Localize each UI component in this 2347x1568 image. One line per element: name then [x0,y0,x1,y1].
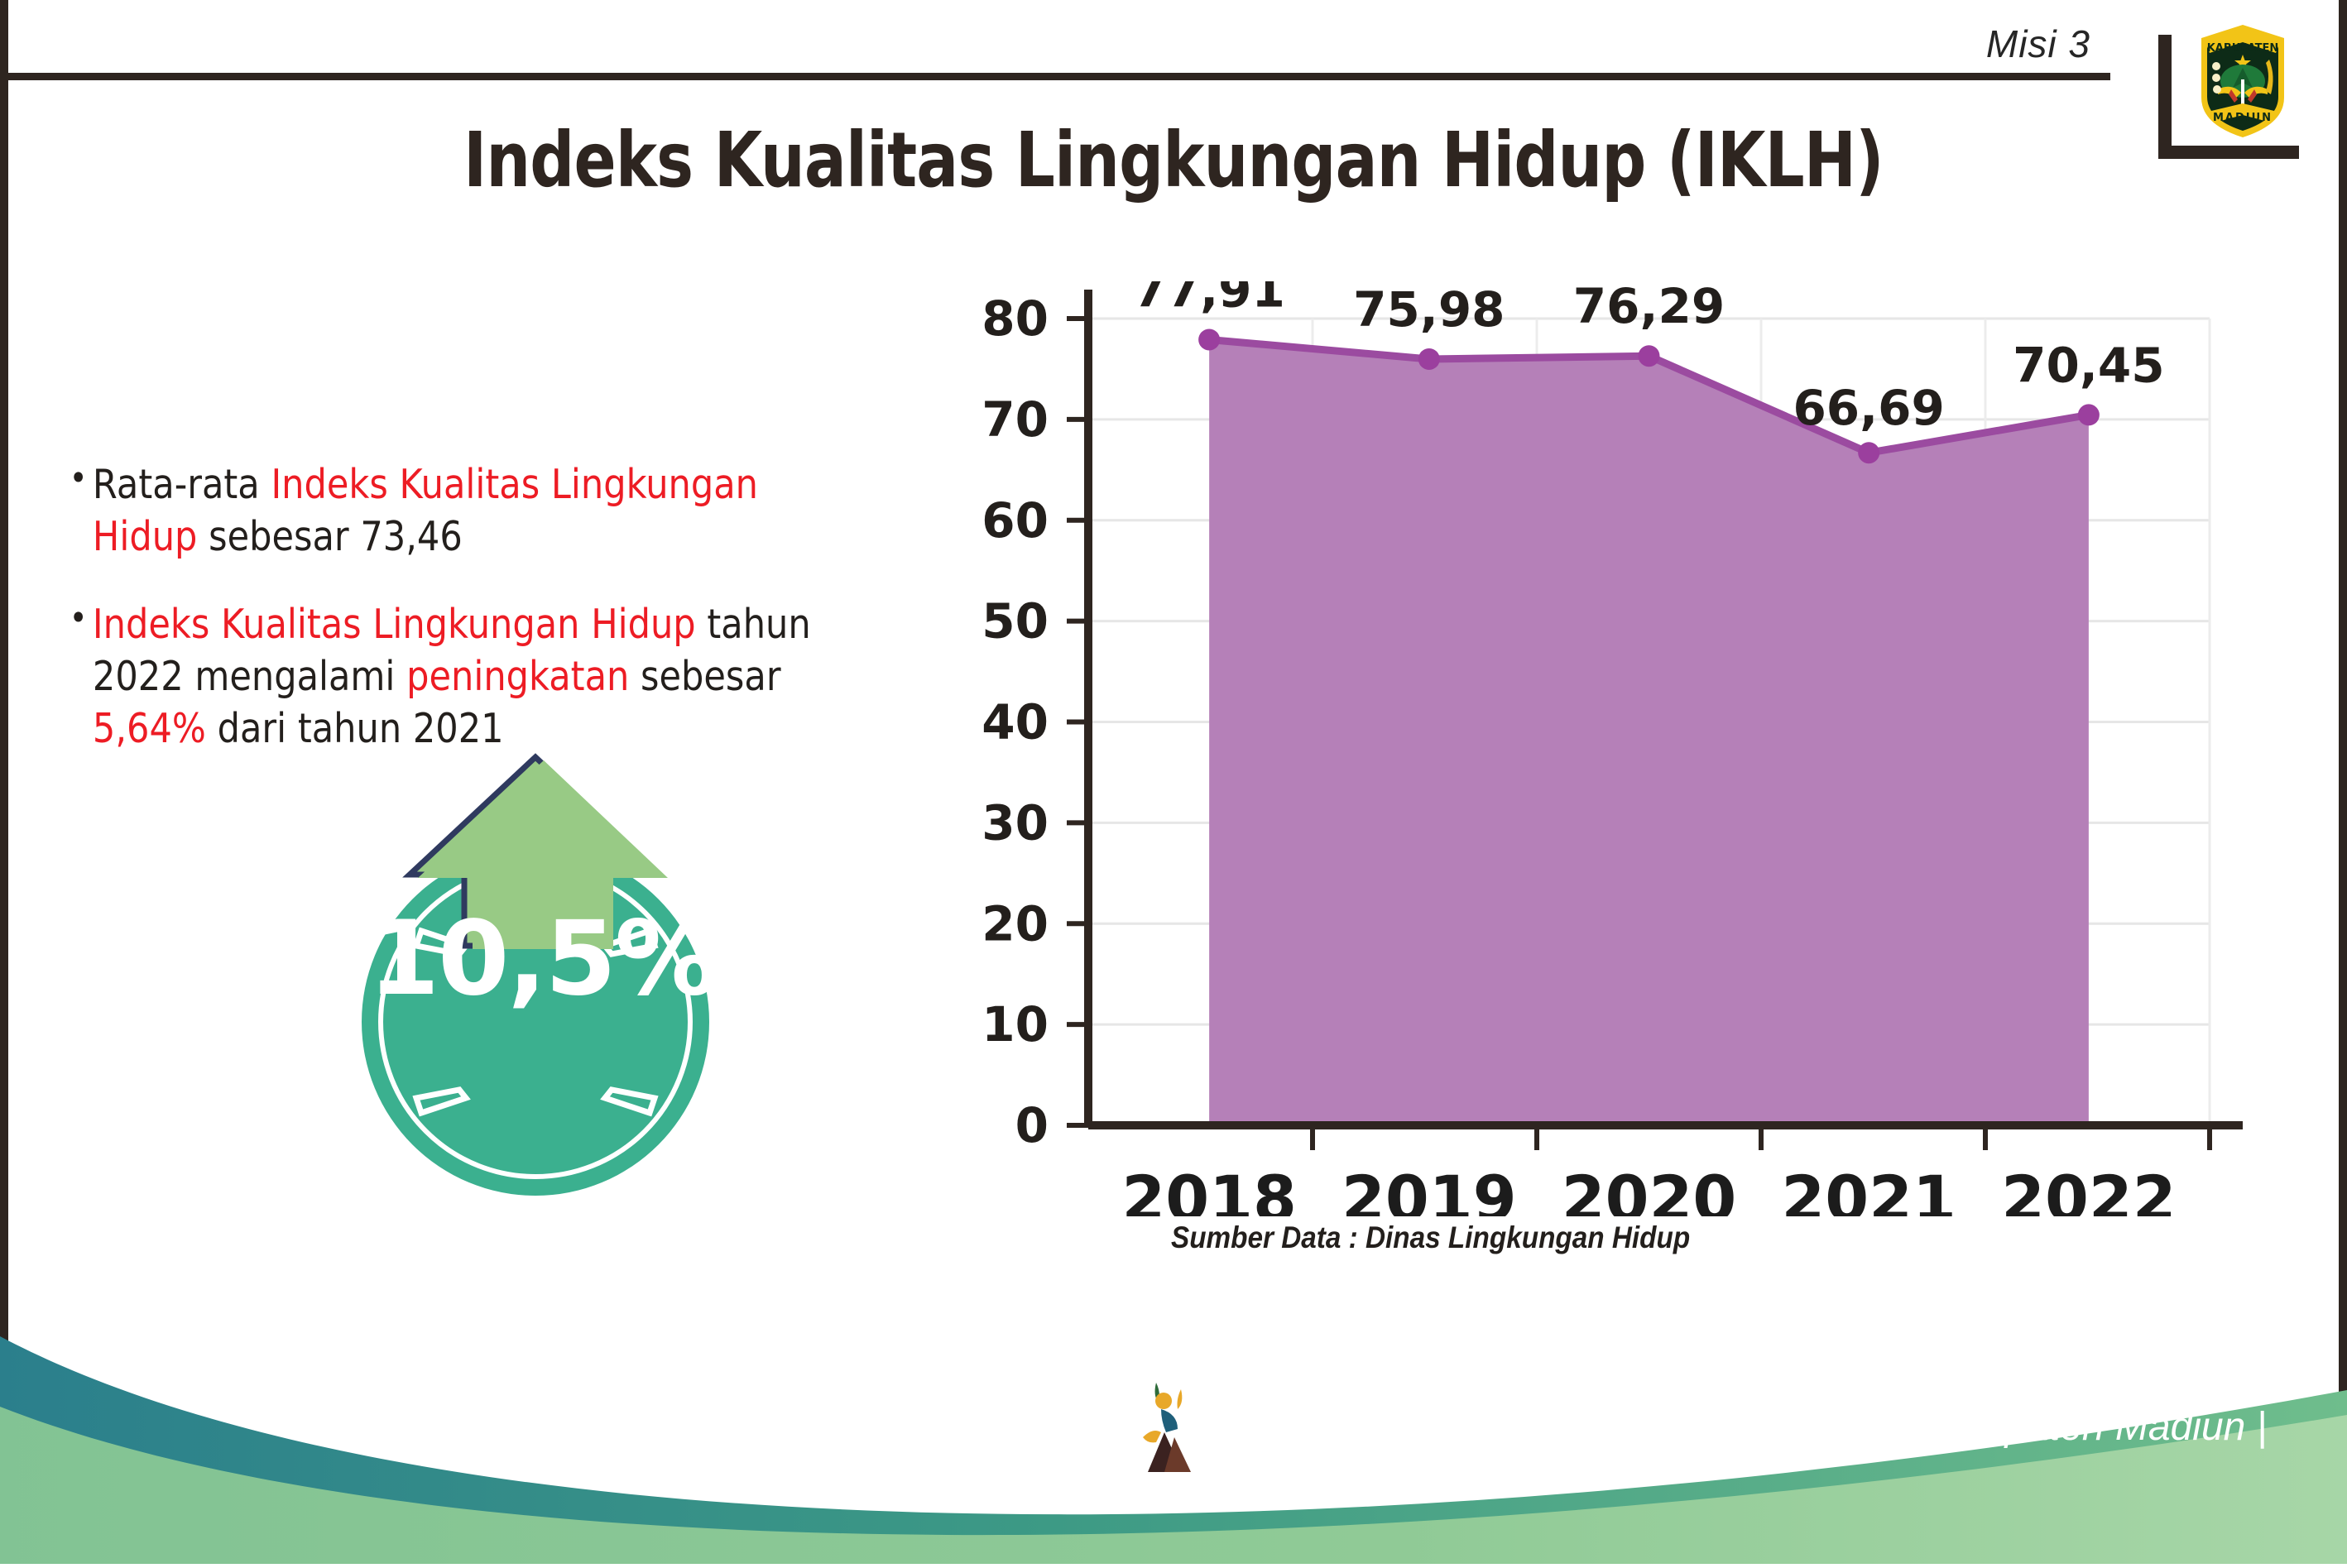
chart-area-fill [1209,339,2089,1125]
growth-badge: 10,5% [327,749,757,1196]
badge-value: 10,5% [327,899,757,1019]
statistik-figure-logo-icon [1136,1378,1207,1477]
svg-text:KABUPATEN: KABUPATEN [2207,42,2279,55]
page-title: Indeks Kualitas Lingkungan Hidup (IKLH) [211,116,2136,204]
y-tick-label: 40 [982,694,1049,750]
data-point-2018 [1198,328,1220,350]
value-label-2019: 75,98 [1353,281,1505,338]
chart-source-note: Sumber Data : Dinas Lingkungan Hidup [1171,1220,1690,1255]
svg-text:MADIUN: MADIUN [2213,112,2273,124]
x-tick-label-2020: 2020 [1562,1162,1737,1216]
value-label-2020: 76,29 [1573,281,1725,334]
iklh-area-chart: 01020304050607080 20182019202020212022 7… [968,281,2243,1291]
footer: Media Infografis Data Statistik Sektoral… [0,1291,2347,1564]
chart-y-axis-tick-labels: 01020304050607080 [982,290,1049,1153]
data-point-2019 [1418,348,1440,370]
key-findings-list: Rata-rata Indeks Kualitas Lingkungan Hid… [68,459,962,792]
value-label-2022: 70,45 [2013,337,2164,393]
value-label-2018: 77,91 [1133,281,1284,318]
highlighted-text: 5,64% [93,705,206,752]
data-point-2020 [1639,345,1660,367]
chart-canvas: 01020304050607080 20182019202020212022 7… [968,281,2243,1216]
x-tick-label-2019: 2019 [1341,1162,1517,1216]
kabupaten-madiun-emblem-icon: KABUPATEN MADIUN [2193,18,2292,142]
plain-text: dari tahun 2021 [206,705,504,752]
footer-caption: Media Infografis Data Statistik Sektoral… [1217,1404,2267,1450]
mission-label: Misi 3 [1986,22,2090,66]
x-tick-label-2018: 2018 [1121,1162,1297,1216]
y-tick-label: 30 [982,794,1049,851]
y-tick-label: 20 [982,895,1049,952]
bracket-vertical-arm [2158,35,2172,159]
plain-text: Rata-rata [93,461,271,508]
plain-text: sebesar 73,46 [197,513,462,560]
highlighted-text: peningkatan [406,653,629,700]
list-item: Indeks Kualitas Lingkungan Hidup tahun 2… [68,599,854,755]
x-tick-label-2022: 2022 [2001,1162,2177,1216]
data-point-2021 [1858,442,1879,463]
y-tick-label: 10 [982,996,1049,1053]
x-tick-label-2021: 2021 [1781,1162,1956,1216]
y-tick-label: 0 [1015,1097,1049,1153]
highlighted-text: Indeks Kualitas Lingkungan Hidup [93,601,696,648]
y-tick-label: 70 [982,391,1049,448]
list-item: Rata-rata Indeks Kualitas Lingkungan Hid… [68,459,854,563]
bracket-horizontal-arm [2158,146,2299,159]
y-tick-label: 60 [982,492,1049,549]
header-divider-rule [8,73,2110,80]
y-tick-label: 50 [982,593,1049,650]
value-label-2021: 66,69 [1793,380,1944,436]
chart-x-axis-tick-labels: 20182019202020212022 [1121,1162,2176,1216]
y-tick-label: 80 [982,290,1049,347]
plain-text: sebesar [629,653,780,700]
data-point-2022 [2078,404,2100,425]
